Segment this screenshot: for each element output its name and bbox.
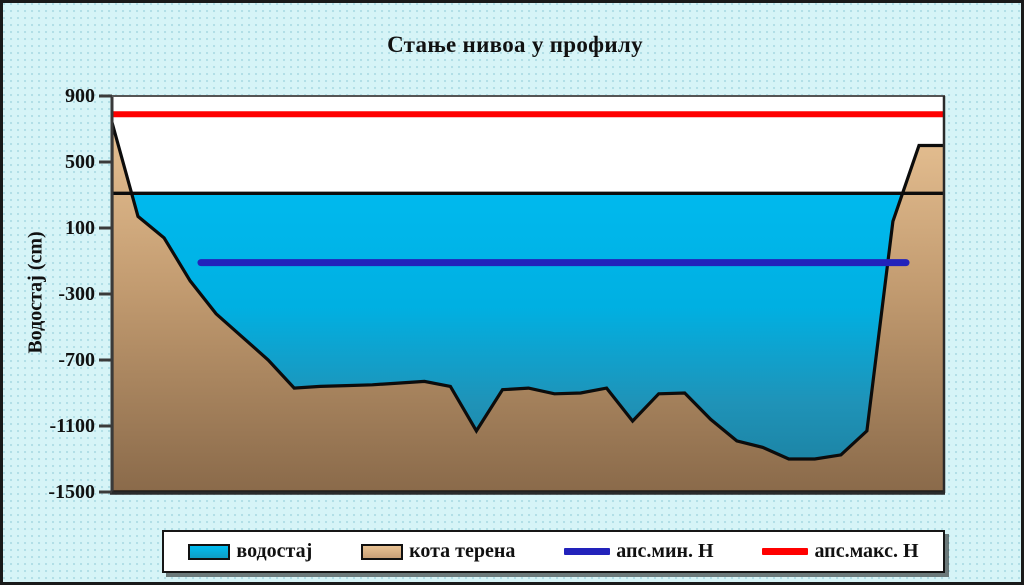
y-axis-ticks xyxy=(99,96,112,492)
legend-item-kota-terena[interactable]: кота терена xyxy=(361,540,515,563)
legend-swatch-kota-terena-icon xyxy=(361,544,403,560)
legend-label-vodostaj: водостај xyxy=(236,540,312,563)
legend-item-vodostaj[interactable]: водостај xyxy=(188,540,312,563)
legend-label-kota-terena: кота терена xyxy=(409,540,515,563)
legend-label-aps-max: апс.макс. H xyxy=(814,540,918,563)
legend-swatch-vodostaj-icon xyxy=(188,544,230,560)
chart-legend: водостај кота терена апс.мин. H апс.макс… xyxy=(162,530,945,573)
legend-item-aps-max[interactable]: апс.макс. H xyxy=(762,540,918,563)
legend-swatch-aps-min-icon xyxy=(564,548,610,555)
legend-item-aps-min[interactable]: апс.мин. H xyxy=(564,540,713,563)
chart-screen: Стање нивоа у профилу Водостај (cm) 900 … xyxy=(0,0,1024,585)
legend-label-aps-min: апс.мин. H xyxy=(616,540,713,563)
legend-swatch-aps-max-icon xyxy=(762,548,808,555)
chart-plot-area xyxy=(3,3,1024,585)
